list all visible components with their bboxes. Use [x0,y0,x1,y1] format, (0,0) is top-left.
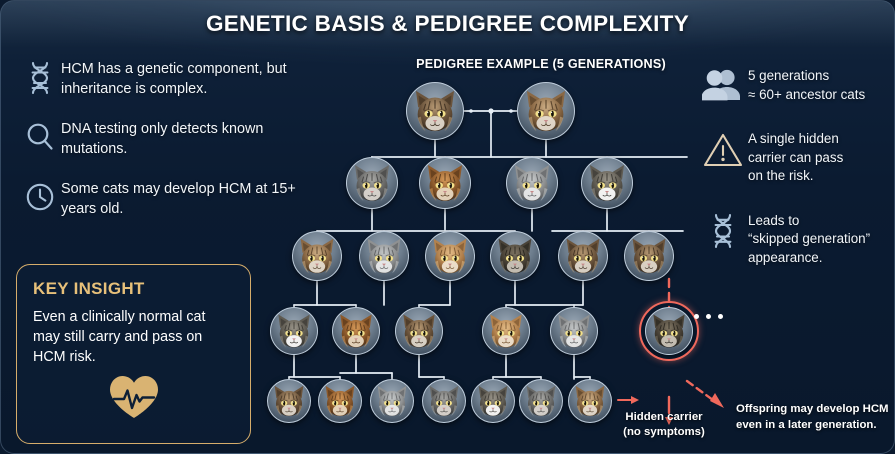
pedigree-cat-g5-4[interactable] [422,379,466,423]
heart-pulse-icon [33,373,234,421]
key-insight-heading: KEY INSIGHT [33,279,234,299]
hidden-carrier-label: Hidden carrier (no symptoms) [612,410,716,440]
pedigree-cat-g2-4[interactable] [581,157,633,209]
left-bullet-list: HCM has a genetic component, but inherit… [19,59,319,239]
right-bullet-line2: ≈ 60+ ancestor cats [748,87,865,102]
right-bullet-line1: Leads to [748,213,799,228]
right-bullet-line3: appearance. [748,250,822,265]
dot [706,314,711,319]
pedigree-cat-g3-5[interactable] [558,231,608,281]
right-bullet-line1: A single hidden [748,131,839,146]
pedigree-cat-g1-2[interactable] [517,82,575,140]
hidden-carrier-line1: Hidden carrier [625,411,702,423]
key-insight-card: KEY INSIGHT Even a clinically normal cat… [16,264,251,444]
pedigree-cat-g5-7[interactable] [568,379,612,423]
bullet-text: DNA testing only detects known mutations… [61,119,319,159]
pedigree-cat-g5-2[interactable] [318,379,362,423]
pedigree-cat-g5-5[interactable] [471,379,515,423]
dot [718,314,723,319]
pedigree-cat-g4-1[interactable] [270,307,318,355]
pedigree-cat-g4-5[interactable] [550,307,598,355]
pedigree-title: PEDIGREE EXAMPLE (5 GENERATIONS) [396,57,686,71]
pedigree-cat-g2-3[interactable] [506,157,558,209]
pedigree-cat-g4-4[interactable] [482,307,530,355]
magnifier-icon [19,119,61,153]
dot [694,314,699,319]
right-bullet-line2: carrier can pass [748,150,843,165]
bullet-dna-testing: DNA testing only detects known mutations… [19,119,319,159]
pedigree-cat-g3-6[interactable] [624,231,674,281]
dna-icon [19,59,61,95]
bullet-text: HCM has a genetic component, but inherit… [61,59,319,99]
offspring-line2: even in a later generation. [736,419,877,431]
warning-triangle-icon [698,130,748,169]
offspring-risk-label: Offspring may develop HCM even in a late… [736,401,895,433]
bullet-five-generations: 5 generations ≈ 60+ ancestor cats [698,67,893,104]
ellipsis-indicator [694,314,723,319]
bullet-text: Some cats may develop HCM at 15+ years o… [61,179,319,219]
right-bullet-line2: “skipped generation” [748,231,870,246]
bullet-genetic-component: HCM has a genetic component, but inherit… [19,59,319,99]
pedigree-cat-g2-1[interactable] [346,157,398,209]
right-bullet-list: 5 generations ≈ 60+ ancestor cats A sing… [698,67,893,293]
pedigree-cat-g4-3[interactable] [395,307,443,355]
pedigree-cat-g2-2[interactable] [419,157,471,209]
right-bullet-line3: on the risk. [748,168,814,183]
hidden-carrier-line2: (no symptoms) [623,426,705,438]
offspring-line1: Offspring may develop HCM [736,403,889,415]
pedigree-cat-g3-3[interactable] [425,231,475,281]
key-insight-body: Even a clinically normal cat may still c… [33,307,234,367]
page-title: GENETIC BASIS & PEDIGREE COMPLEXITY [1,11,894,37]
infographic-root: GENETIC BASIS & PEDIGREE COMPLEXITY HCM … [0,0,895,454]
pedigree-cat-g3-4[interactable] [490,231,540,281]
hidden-carrier-highlight-ring [639,301,699,361]
bullet-skipped-generation: Leads to “skipped generation” appearance… [698,212,893,268]
bullet-hidden-carrier: A single hidden carrier can pass on the … [698,130,893,186]
pedigree-cat-g3-2[interactable] [359,231,409,281]
pedigree-cat-g5-6[interactable] [519,379,563,423]
pedigree-cat-g5-1[interactable] [267,379,311,423]
clock-icon [19,179,61,212]
bullet-late-onset: Some cats may develop HCM at 15+ years o… [19,179,319,219]
dna-icon [698,212,748,249]
pedigree-cat-g5-3[interactable] [370,379,414,423]
pedigree-cat-g4-2[interactable] [332,307,380,355]
right-bullet-line1: 5 generations [748,68,829,83]
people-icon [698,67,748,102]
pedigree-cat-g1-1[interactable] [406,82,464,140]
